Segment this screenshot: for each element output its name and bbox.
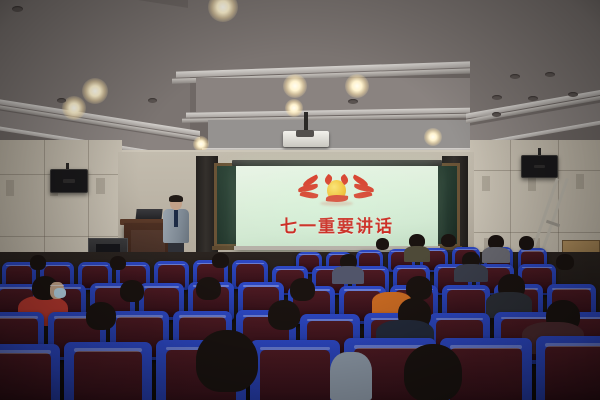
attendee-head bbox=[212, 253, 229, 268]
downlight-off bbox=[492, 112, 501, 117]
attendee-head bbox=[441, 234, 456, 247]
downlight bbox=[345, 74, 369, 98]
party-flame-emblem-icon bbox=[296, 176, 376, 208]
attendee-head bbox=[268, 300, 300, 330]
downlight-off bbox=[510, 74, 520, 79]
attendee-shoulders bbox=[330, 352, 372, 400]
downlight-off bbox=[568, 92, 578, 97]
downlight-off bbox=[12, 6, 23, 12]
projection-screen: 七一重要讲话 bbox=[236, 166, 438, 248]
attendee-head bbox=[519, 236, 534, 250]
seat-foreground bbox=[250, 340, 340, 400]
downlight-off bbox=[528, 96, 538, 101]
glasses-icon bbox=[50, 285, 64, 288]
screenshot-root: 七一重要讲话 bbox=[0, 0, 600, 400]
attendee-head bbox=[110, 256, 126, 270]
downlight bbox=[285, 99, 303, 117]
downlight-off bbox=[57, 98, 66, 103]
downlight bbox=[283, 74, 307, 98]
downlight-off bbox=[492, 95, 502, 100]
presenter-hair bbox=[169, 195, 183, 202]
downlight bbox=[424, 128, 442, 146]
attendee-head bbox=[30, 255, 46, 270]
projector-lens-icon bbox=[296, 130, 314, 137]
presenter-tie bbox=[174, 210, 178, 227]
attendee-head bbox=[376, 238, 389, 250]
attendee-head bbox=[290, 278, 315, 301]
wall-speaker-right bbox=[521, 155, 558, 178]
attendee-head bbox=[120, 280, 144, 302]
wall-speaker-left bbox=[50, 169, 88, 193]
slide-title: 七一重要讲话 bbox=[236, 212, 438, 237]
seat-foreground bbox=[64, 342, 152, 400]
downlight-off bbox=[148, 98, 157, 103]
seat-foreground bbox=[536, 336, 600, 400]
face-mask-icon bbox=[54, 288, 66, 298]
attendee-head bbox=[196, 277, 221, 300]
attendee-shoulders bbox=[332, 266, 364, 284]
attendee-shoulders bbox=[454, 264, 488, 282]
attendee-shoulders bbox=[482, 247, 510, 263]
downlight-off bbox=[545, 72, 555, 77]
seat-foreground bbox=[0, 344, 60, 400]
attendee-shoulders bbox=[404, 246, 430, 262]
attendee-head-foreground bbox=[196, 330, 258, 392]
attendee-head-foreground bbox=[404, 344, 462, 400]
downlight-off bbox=[348, 99, 358, 104]
attendee-head bbox=[86, 302, 116, 330]
downlight bbox=[82, 78, 108, 104]
attendee-head bbox=[556, 254, 574, 270]
